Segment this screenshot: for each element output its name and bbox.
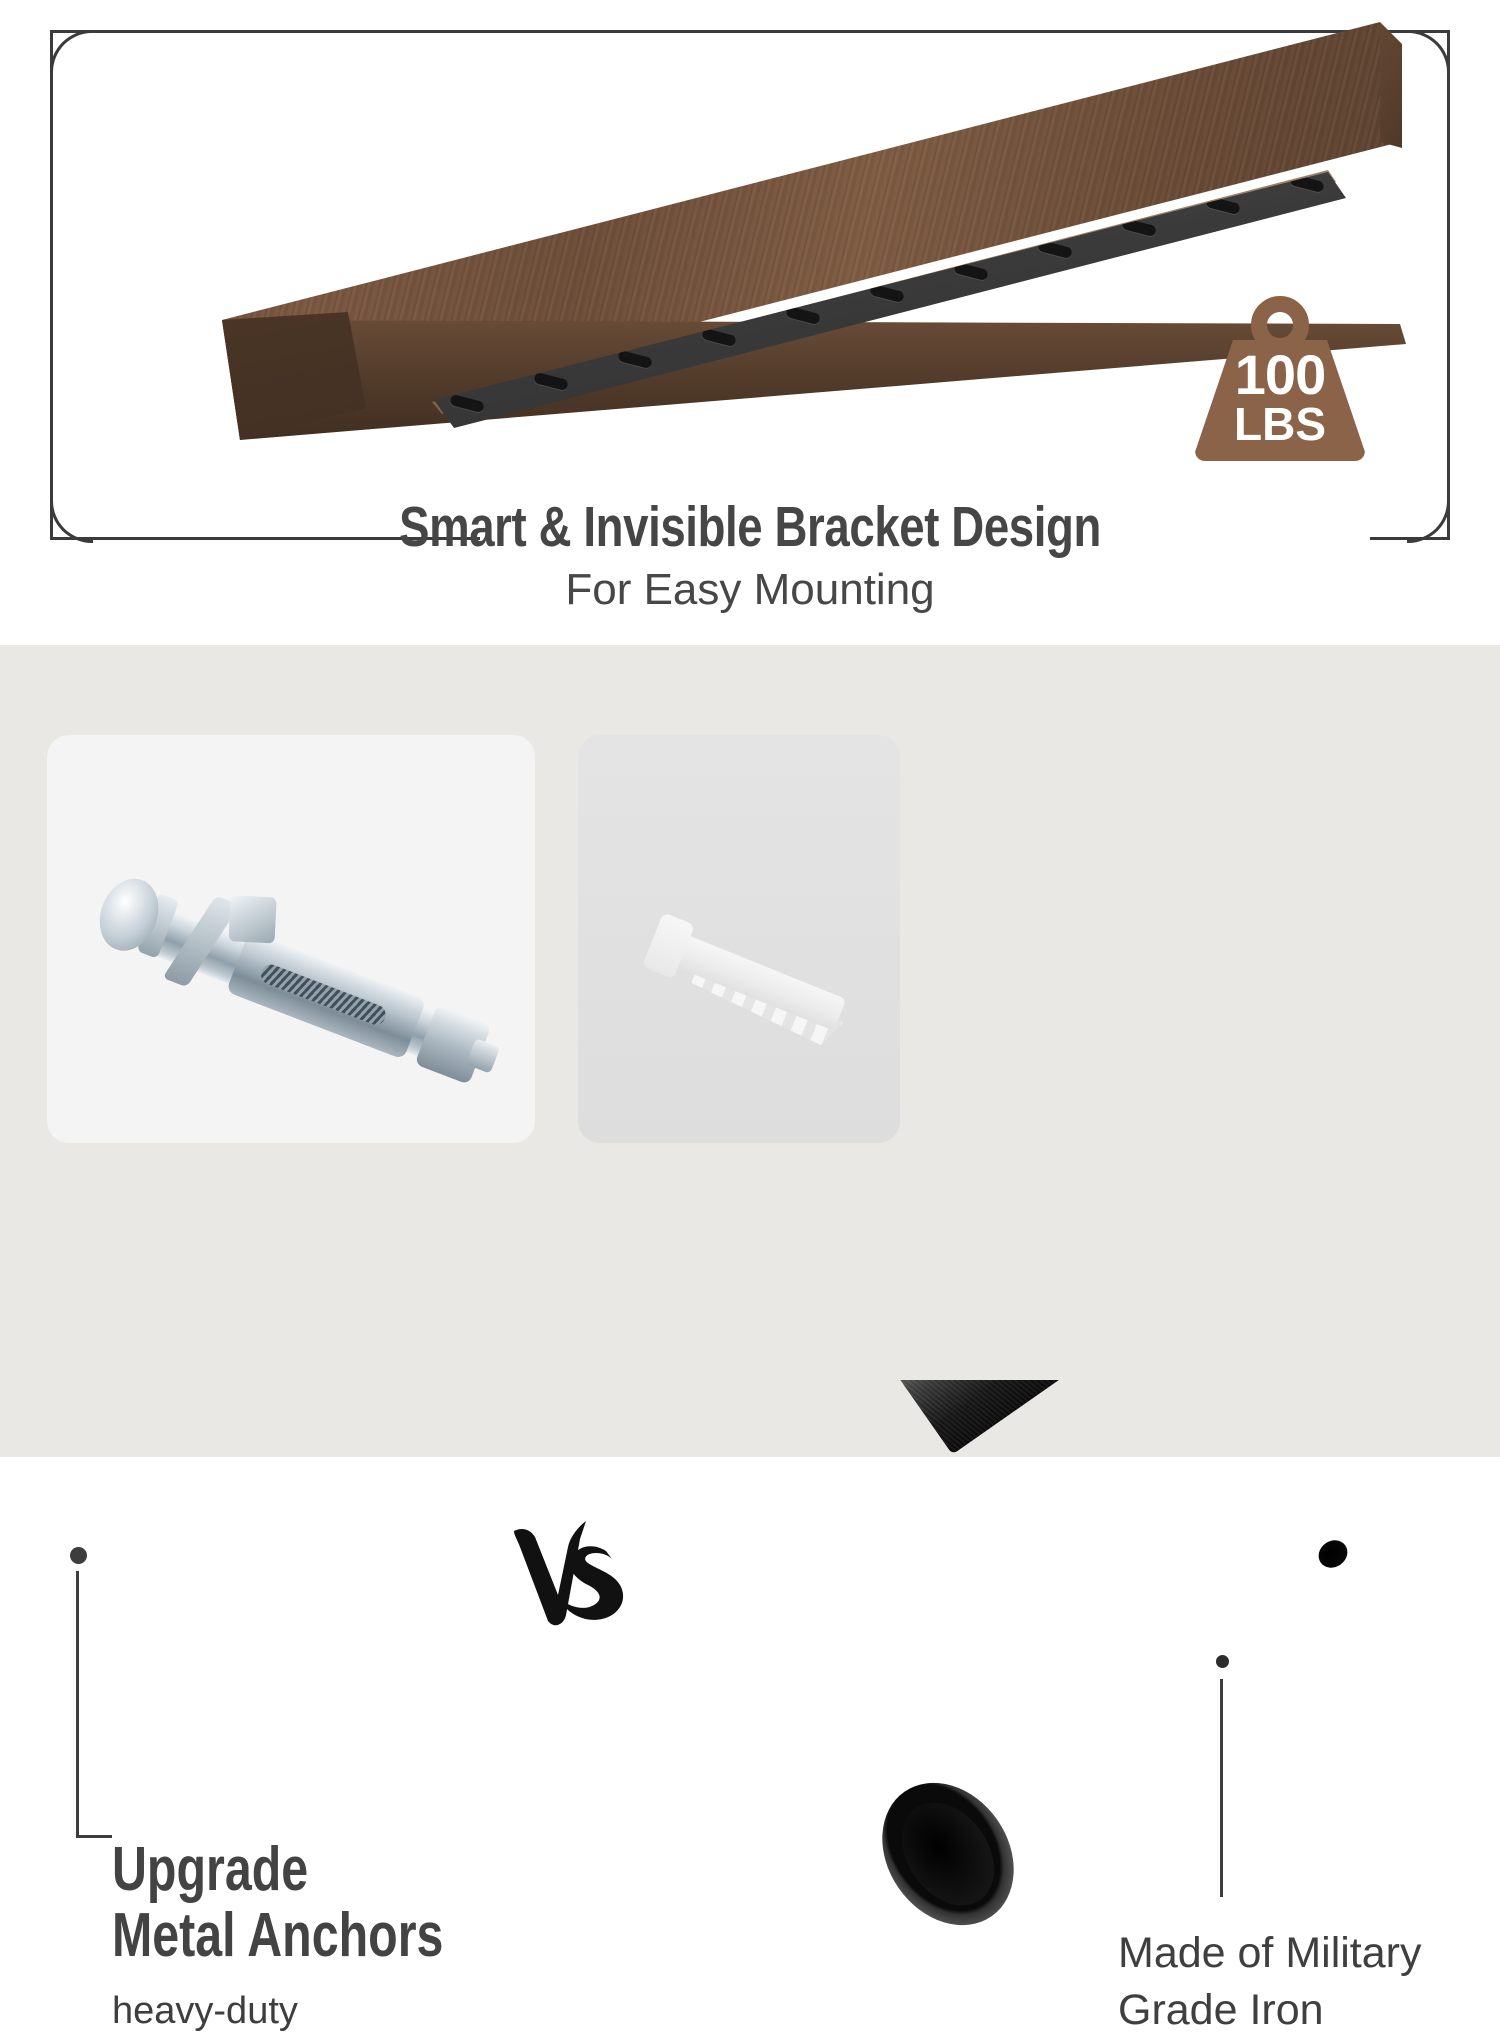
- iron-pipe-caption: Made of Military Grade Iron: [1118, 1925, 1421, 2039]
- bracket-slot: [1037, 240, 1073, 259]
- pipe-body: [880, 1380, 1500, 1455]
- callout-leader-anchor-vertical: [76, 1571, 79, 1835]
- callout-leader-pipe-vertical: [1220, 1679, 1223, 1897]
- callout-leader-anchor-horizontal: [76, 1835, 112, 1838]
- bracket-slot: [533, 372, 569, 391]
- frame-border-right: [1447, 30, 1450, 540]
- bracket-slot: [449, 394, 485, 413]
- caption-left-line1: Upgrade: [112, 1837, 443, 1903]
- weight-badge-text: 100 LBS: [1195, 348, 1365, 446]
- weight-capacity-badge: 100 LBS: [1195, 296, 1365, 461]
- bracket-slot: [617, 350, 653, 369]
- plastic-anchor-illustration: [612, 889, 876, 1081]
- weight-badge-unit: LBS: [1195, 402, 1365, 446]
- iron-pipe-image: [880, 1380, 1500, 1940]
- callout-ring-pipe: [1204, 1643, 1240, 1679]
- frame-corner-top-right: [1407, 30, 1450, 73]
- caption-left-line3: heavy-duty: [112, 1990, 537, 2033]
- bracket-slot: [1121, 218, 1157, 237]
- weight-badge-number: 100: [1195, 348, 1365, 402]
- bracket-slot: [785, 306, 821, 325]
- page-title: Smart & Invisible Bracket Design: [150, 494, 1350, 560]
- caption-right-line2: Grade Iron: [1118, 1982, 1421, 2039]
- callout-dot-anchor: [62, 1539, 94, 1571]
- plastic-anchor-photo: [578, 735, 900, 1143]
- caption-left-line2: Metal Anchors: [112, 1903, 443, 1969]
- bracket-design-section: 100 LBS Smart & Invisible Bracket Design…: [0, 0, 1500, 645]
- bracket-slot: [701, 328, 737, 347]
- bracket-slot: [953, 262, 989, 281]
- anchor-wing: [228, 895, 276, 943]
- frame-corner-top-left: [50, 30, 93, 73]
- bracket-slot: [1205, 196, 1241, 215]
- vs-icon: [508, 1503, 638, 1633]
- bracket-slot: [869, 284, 905, 303]
- metal-anchor-illustration: [49, 837, 516, 1143]
- frame-border-left: [50, 30, 53, 540]
- page-subtitle: For Easy Mounting: [0, 565, 1500, 615]
- metal-anchor-photo: [47, 735, 535, 1143]
- materials-section: Upgrade Metal Anchors heavy-duty Made of…: [0, 645, 1500, 1457]
- metal-anchor-caption: Upgrade Metal Anchors heavy-duty: [112, 1837, 537, 2033]
- caption-right-line1: Made of Military: [1118, 1925, 1421, 1982]
